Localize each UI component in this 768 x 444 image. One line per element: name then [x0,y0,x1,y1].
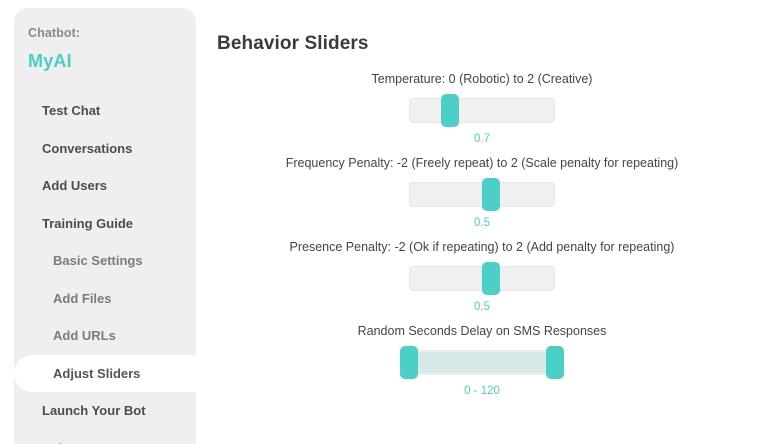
sidebar-item-label: Adjust Sliders [53,366,140,381]
sidebar-item-add-files[interactable]: Add Files [14,280,196,318]
sidebar-item-label: Add Files [53,291,112,306]
slider-value-temperature: 0.7 [196,133,768,145]
sidebar-bot-name: MyAI [28,51,196,72]
slider-thumb-temperature[interactable] [441,94,459,127]
slider-random-seconds-delay[interactable] [409,350,555,375]
slider-thumb-high-random-seconds-delay[interactable] [546,346,564,379]
sidebar-item-conversations[interactable]: Conversations [14,130,196,168]
sidebar-item-label: Training Guide [42,216,133,231]
sidebar-item-training-guide[interactable]: Training Guide [14,205,196,243]
sidebar-item-add-urls[interactable]: Add URLs [14,317,196,355]
slider-value-frequency-penalty: 0.5 [196,217,768,229]
sidebar-item-test-chat[interactable]: Test Chat [14,92,196,130]
sidebar-item-label: Test Chat [42,103,100,118]
slider-presence-penalty[interactable] [409,266,555,291]
slider-label-temperature: Temperature: 0 (Robotic) to 2 (Creative) [196,72,768,86]
sidebar-item-basic-settings[interactable]: Basic Settings [14,242,196,280]
slider-value-random-seconds-delay: 0 - 120 [196,385,768,397]
sidebar: Chatbot: MyAI Test ChatConversationsAdd … [14,8,196,444]
sidebar-item-delete-bot[interactable]: Delete Bot [14,430,196,444]
behavior-sliders-list: Temperature: 0 (Robotic) to 2 (Creative)… [196,72,768,408]
slider-fill-random-seconds-delay [409,352,555,373]
sidebar-item-label: Add Users [42,178,107,193]
slider-value-presence-penalty: 0.5 [196,301,768,313]
page-title: Behavior Sliders [217,33,369,55]
slider-thumb-presence-penalty[interactable] [482,262,500,295]
slider-label-presence-penalty: Presence Penalty: -2 (Ok if repeating) t… [196,240,768,254]
sidebar-item-label: Add URLs [53,328,116,343]
slider-frequency-penalty[interactable] [409,182,555,207]
slider-group-frequency-penalty: Frequency Penalty: -2 (Freely repeat) to… [196,156,768,229]
sidebar-item-label: Conversations [42,141,132,156]
slider-group-random-seconds-delay: Random Seconds Delay on SMS Responses0 -… [196,324,768,397]
slider-label-frequency-penalty: Frequency Penalty: -2 (Freely repeat) to… [196,156,768,170]
slider-label-random-seconds-delay: Random Seconds Delay on SMS Responses [196,324,768,338]
slider-track-temperature[interactable] [409,98,555,123]
slider-thumb-frequency-penalty[interactable] [482,178,500,211]
sidebar-item-add-users[interactable]: Add Users [14,167,196,205]
sidebar-kicker: Chatbot: [28,26,196,40]
sidebar-nav: Test ChatConversationsAdd UsersTraining … [14,92,196,444]
slider-temperature[interactable] [409,98,555,123]
sidebar-item-adjust-sliders[interactable]: Adjust Sliders [14,355,256,393]
sidebar-item-label: Basic Settings [53,253,143,268]
slider-group-presence-penalty: Presence Penalty: -2 (Ok if repeating) t… [196,240,768,313]
sidebar-item-launch-your-bot[interactable]: Launch Your Bot [14,392,196,430]
slider-thumb-low-random-seconds-delay[interactable] [400,346,418,379]
sidebar-item-label: Launch Your Bot [42,403,146,418]
main-content: Behavior Sliders Temperature: 0 (Robotic… [196,0,768,444]
sidebar-header: Chatbot: MyAI [14,8,196,72]
slider-group-temperature: Temperature: 0 (Robotic) to 2 (Creative)… [196,72,768,145]
